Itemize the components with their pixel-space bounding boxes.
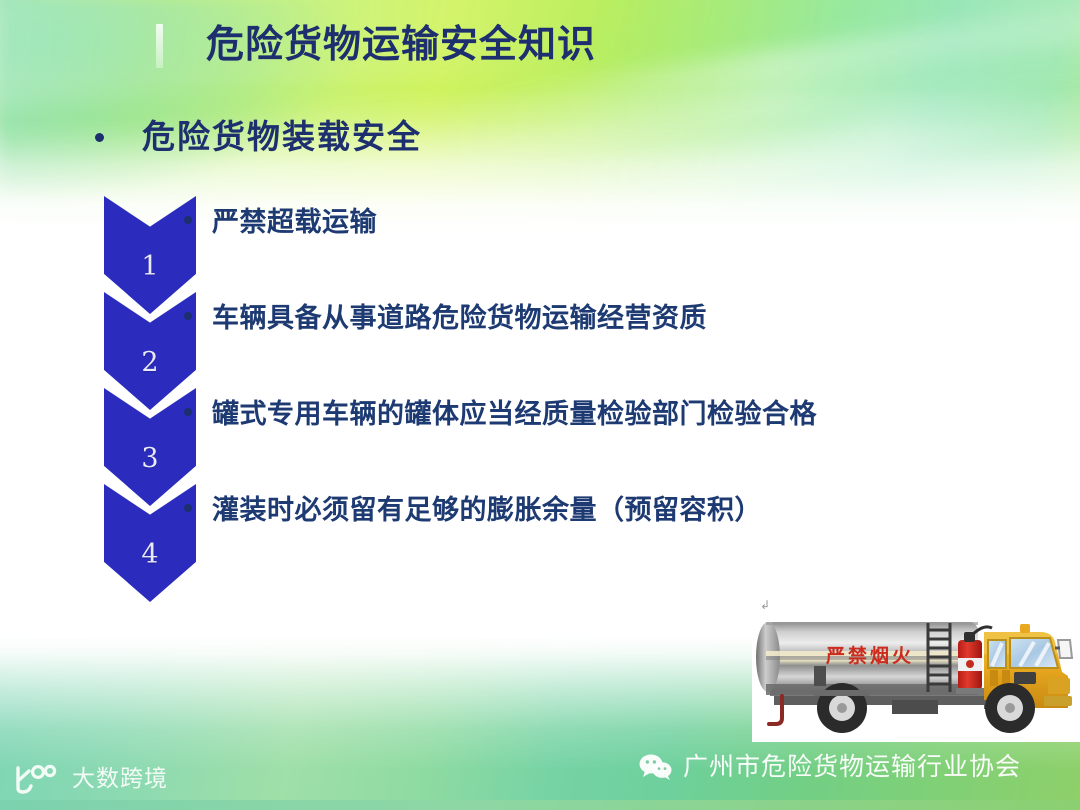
- chevron-step-1: 1: [104, 196, 196, 314]
- page-title: 危险货物运输安全知识: [206, 18, 596, 70]
- chevron-step-number: 3: [141, 445, 158, 506]
- section-heading-label: 危险货物装载安全: [142, 115, 422, 159]
- wechat-icon: [639, 754, 673, 781]
- list-item: 严禁超载运输: [184, 205, 377, 241]
- watermark-label: 大数跨境: [72, 765, 168, 793]
- bullet-dot-icon: [184, 312, 192, 320]
- chevron-step-stack: 1 2 3 4: [104, 196, 196, 600]
- list-item: 罐式专用车辆的罐体应当经质量检验部门检验合格: [184, 397, 817, 433]
- slide-header: 危险货物运输安全知识: [0, 18, 1080, 76]
- chevron-step-number: 2: [141, 349, 158, 410]
- tanker-truck-illustration: 严禁烟火: [752, 596, 1080, 742]
- footer-bottom-edge: [0, 800, 1080, 810]
- list-item-label: 灌装时必须留有足够的膨胀余量（预留容积）: [212, 493, 762, 529]
- wechat-account-row: 广州市危险货物运输行业协会: [639, 752, 1021, 782]
- tank-warning-text: 严禁烟火: [826, 644, 914, 667]
- bullet-dot-icon: [95, 133, 104, 142]
- bullet-dot-icon: [184, 408, 192, 416]
- chevron-step-number: 4: [141, 541, 158, 602]
- list-item-label: 罐式专用车辆的罐体应当经质量检验部门检验合格: [212, 397, 817, 433]
- bullet-dot-icon: [184, 504, 192, 512]
- list-item-label: 严禁超载运输: [212, 205, 377, 241]
- section-heading: 危险货物装载安全: [95, 115, 422, 159]
- wheel-front: [985, 683, 1035, 733]
- slide-canvas: 危险货物运输安全知识 危险货物装载安全 1 2 3 4 严禁超载运输 车辆具备从…: [0, 0, 1080, 810]
- list-item: 车辆具备从事道路危险货物运输经营资质: [184, 301, 707, 337]
- chevron-step-number: 1: [141, 253, 158, 314]
- list-item-label: 车辆具备从事道路危险货物运输经营资质: [212, 301, 707, 337]
- corner-tick-mark: ↲: [760, 598, 770, 613]
- wechat-account-name: 广州市危险货物运输行业协会: [683, 752, 1021, 782]
- dashu-kuajing-logo-icon: [10, 762, 64, 796]
- title-accent-bar: [156, 24, 163, 68]
- watermark-logo: 大数跨境: [10, 762, 168, 796]
- list-item: 灌装时必须留有足够的膨胀余量（预留容积）: [184, 493, 762, 529]
- tanker-truck-image: 严禁烟火: [752, 596, 1080, 742]
- bullet-dot-icon: [184, 216, 192, 224]
